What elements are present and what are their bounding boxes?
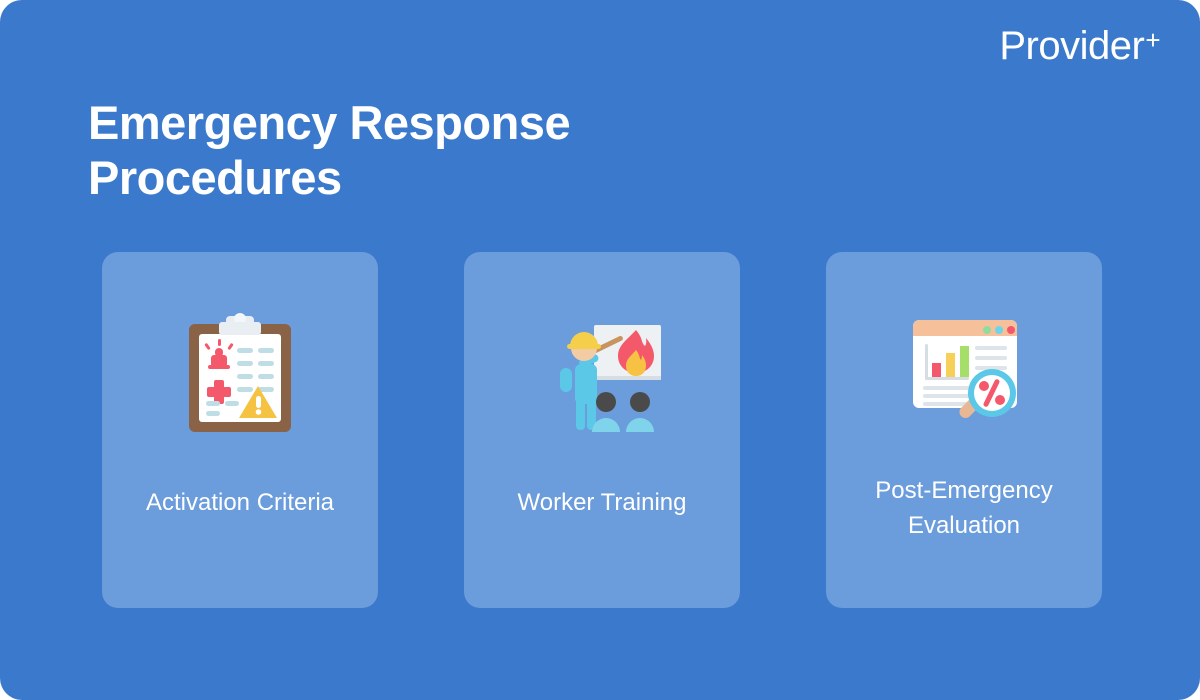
page-title: Emergency Response Procedures xyxy=(88,96,788,206)
card-label: Activation Criteria xyxy=(134,486,346,521)
trainer-whiteboard-fire-icon xyxy=(537,308,667,438)
brand-logo: Provider+ xyxy=(999,26,1160,66)
infographic-page: Provider+ Emergency Response Procedures xyxy=(0,0,1200,700)
card-label: Worker Training xyxy=(506,486,699,521)
card-post-emergency-evaluation[interactable]: Post-Emergency Evaluation xyxy=(826,252,1102,608)
brand-plus-icon: + xyxy=(1145,27,1160,53)
card-list: Activation Criteria xyxy=(102,252,1102,608)
clipboard-alert-icon xyxy=(175,308,305,438)
card-activation-criteria[interactable]: Activation Criteria xyxy=(102,252,378,608)
brand-name: Provider xyxy=(999,26,1144,66)
report-analysis-magnifier-icon xyxy=(899,308,1029,438)
card-worker-training[interactable]: Worker Training xyxy=(464,252,740,608)
card-label: Post-Emergency Evaluation xyxy=(863,474,1064,544)
